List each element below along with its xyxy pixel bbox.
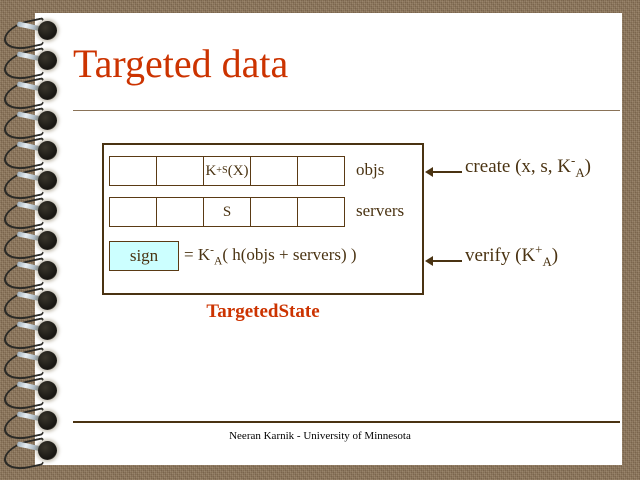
objs-cell-0[interactable] xyxy=(109,156,157,186)
objs-cell-4[interactable] xyxy=(297,156,345,186)
create-left-arrow-icon xyxy=(425,166,462,177)
servers-cell-2[interactable]: S xyxy=(203,197,251,227)
servers-row-label: servers xyxy=(356,201,404,221)
verify-annotation-sub: A xyxy=(542,254,551,269)
servers-cell-4[interactable] xyxy=(297,197,345,227)
servers-cell-1[interactable] xyxy=(156,197,204,227)
objs-cell-2[interactable]: K+S(X) xyxy=(203,156,251,186)
sign-formula: = K-A( h(objs + servers) ) xyxy=(184,245,357,265)
verify-annotation-suffix: ) xyxy=(552,245,558,266)
sign-field[interactable]: sign xyxy=(109,241,179,271)
verify-left-arrow-icon xyxy=(425,255,462,266)
sign-formula-suffix: ( h(objs + servers) ) xyxy=(222,245,356,264)
targeted-state-box: K+S(X) objs S servers sign = K-A( h(objs… xyxy=(102,143,424,295)
page-title: Targeted data xyxy=(73,41,288,87)
footer-divider xyxy=(73,421,620,423)
create-arrow-shaft xyxy=(430,171,462,173)
slide-canvas: Targeted data K+S(X) objs S servers xyxy=(0,0,640,480)
objs-row: K+S(X) xyxy=(109,156,345,186)
footer-text: Neeran Karnik - University of Minnesota xyxy=(0,430,640,442)
sign-field-label: sign xyxy=(130,246,158,266)
servers-row: S xyxy=(109,197,345,227)
objs-cell-2-suffix: (X) xyxy=(228,163,249,180)
create-annotation-prefix: create (x, s, K xyxy=(465,156,571,177)
servers-cell-2-base: S xyxy=(223,204,231,221)
verify-annotation-prefix: verify (K xyxy=(465,245,535,266)
objs-row-label: objs xyxy=(356,160,384,180)
verify-annotation: verify (K+A) xyxy=(465,245,558,267)
objs-cell-3[interactable] xyxy=(250,156,298,186)
sign-formula-prefix: = K xyxy=(184,245,210,264)
verify-arrow-shaft xyxy=(430,260,462,262)
servers-cell-3[interactable] xyxy=(250,197,298,227)
create-annotation-suffix: ) xyxy=(585,156,591,177)
targeted-state-caption: TargetedState xyxy=(102,301,424,323)
servers-cell-0[interactable] xyxy=(109,197,157,227)
objs-cell-1[interactable] xyxy=(156,156,204,186)
title-divider xyxy=(73,110,620,111)
objs-cell-2-base: K xyxy=(205,163,216,180)
create-annotation-sub: A xyxy=(575,165,584,180)
create-annotation: create (x, s, K-A) xyxy=(465,156,591,178)
